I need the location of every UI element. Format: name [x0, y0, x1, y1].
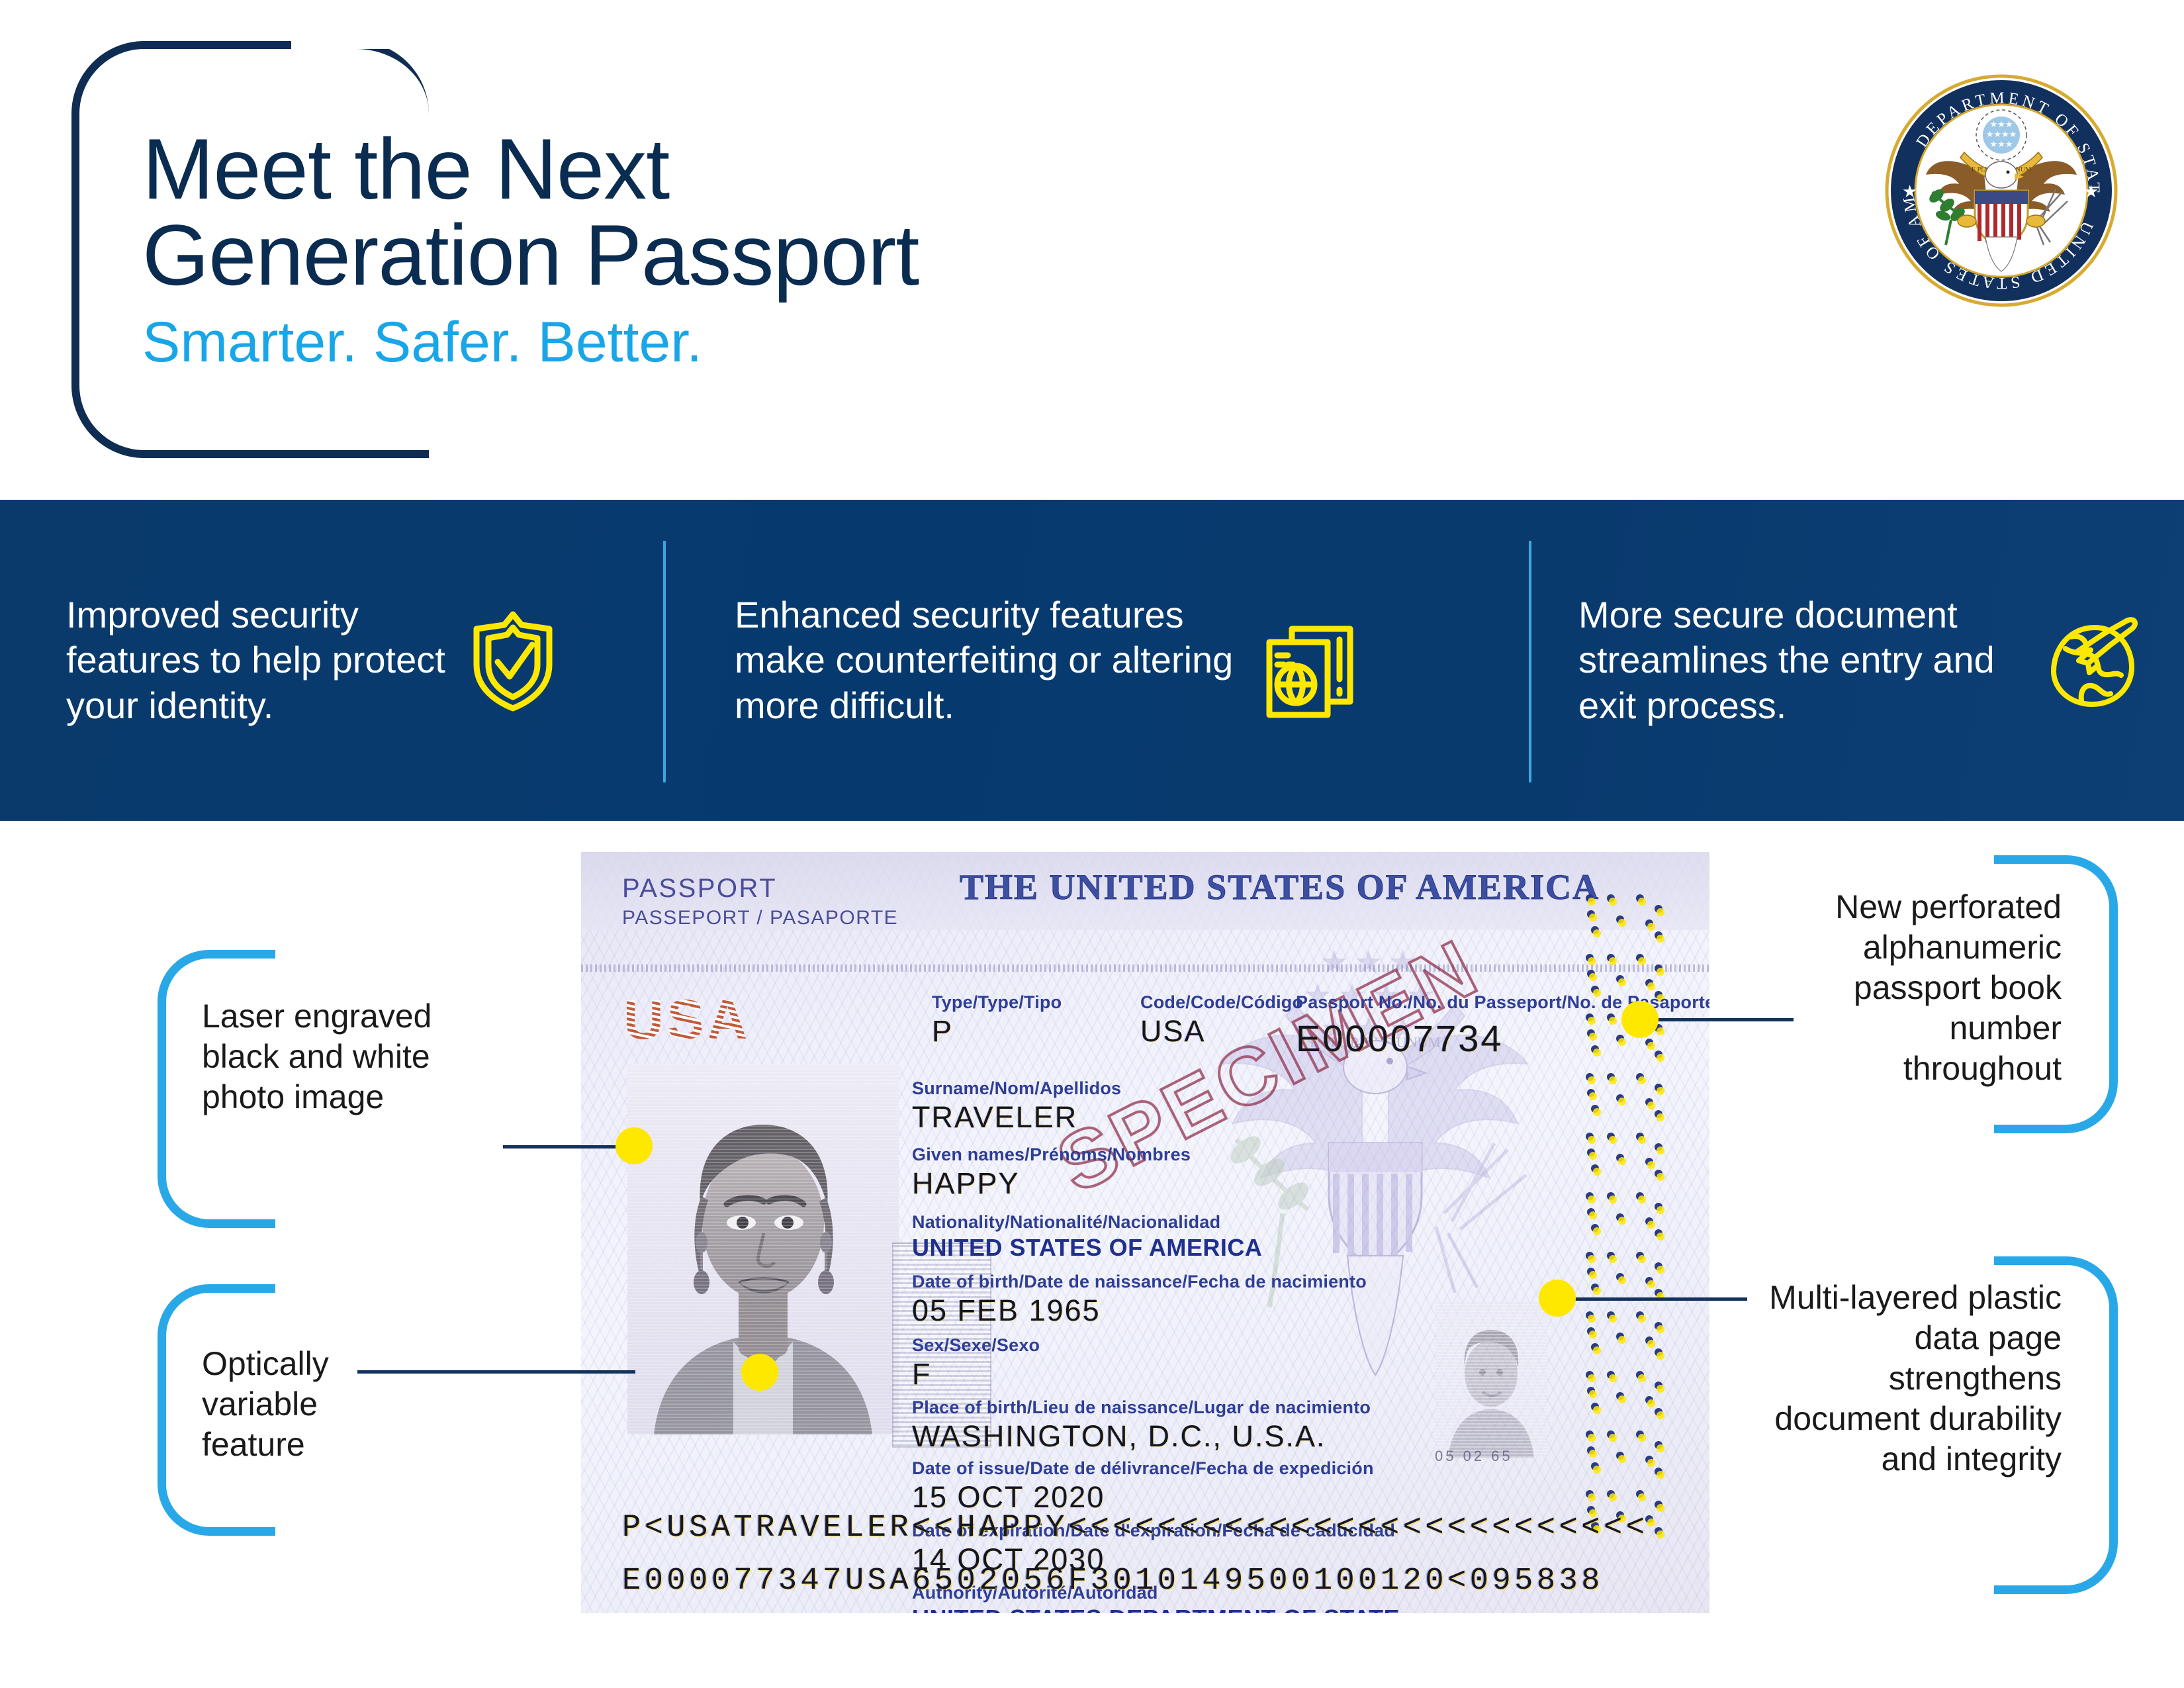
callout-leader-right-2: [1575, 1297, 1747, 1301]
passport-usa-mark: USA: [623, 988, 751, 1052]
callout-dot-right-2: [1539, 1280, 1576, 1317]
page-subtitle: Smarter. Safer. Better.: [142, 312, 1334, 372]
page-title-line-1: Meet the Next: [142, 126, 1334, 212]
callout-left-1-text: Laser engraved black and white photo ima…: [202, 996, 486, 1117]
department-of-state-seal-icon: DEPARTMENT OF STATE UNITED STATES OF AME…: [1885, 74, 2118, 307]
svg-text:★★★: ★★★: [1990, 119, 2013, 129]
callout-left-2-text: Optically variable feature: [202, 1344, 427, 1465]
callout-right-1-text: New perforated alphanumeric passport boo…: [1787, 887, 2062, 1089]
banner-divider-1: [663, 541, 666, 782]
callout-right-2-text: Multi-layered plastic data page strength…: [1767, 1278, 2062, 1479]
field-sex: Sex/Sexe/Sexo F: [912, 1335, 1040, 1391]
callout-dot-right-1: [1621, 1001, 1659, 1038]
svg-text:★★★: ★★★: [1990, 139, 2013, 149]
field-code: Code/Code/Código USA: [1140, 992, 1303, 1049]
passport-data-page: PASSPORT PASSEPORT / PASAPORTE THE UNITE…: [581, 852, 1709, 1613]
svg-text:★★★★: ★★★★: [1986, 129, 2017, 139]
mrz-line-1: P<USATRAVELER<<HAPPY<<<<<<<<<<<<<<<<<<<<…: [622, 1511, 1648, 1546]
ghost-photo-date: 05 02 65: [1435, 1448, 1513, 1465]
passport-card-globe-icon: [1257, 601, 1370, 720]
feature-2-text: Enhanced security features make counterf…: [735, 592, 1257, 728]
field-surname: Surname/Nom/Apellidos TRAVELER: [912, 1078, 1121, 1135]
callout-leader-right-1: [1655, 1018, 1794, 1021]
callout-leader-left-1: [503, 1145, 622, 1149]
callout-dot-left-1: [615, 1127, 653, 1164]
shield-check-icon: [463, 608, 563, 714]
feature-item-1: Improved security features to help prote…: [66, 500, 622, 821]
title-block: Meet the Next Generation Passport Smarte…: [142, 126, 1334, 372]
svg-text:★: ★: [2083, 181, 2099, 201]
banner-divider-2: [1529, 541, 1531, 782]
callout-leader-left-2: [357, 1370, 635, 1374]
page-title-line-2: Generation Passport: [142, 212, 1334, 298]
field-date-of-birth: Date of birth/Date de naissance/Fecha de…: [912, 1272, 1367, 1328]
field-date-of-issue: Date of issue/Date de délivrance/Fecha d…: [912, 1458, 1374, 1515]
svg-text:★: ★: [1902, 181, 1917, 201]
page-header: Meet the Next Generation Passport Smarte…: [0, 0, 2184, 500]
main-illustration-area: PASSPORT PASSEPORT / PASAPORTE THE UNITE…: [0, 821, 2184, 1688]
feature-3-text: More secure document streamlines the ent…: [1578, 592, 2042, 728]
callout-dot-left-2: [741, 1354, 778, 1391]
field-place-of-birth: Place of birth/Lieu de naissance/Lugar d…: [912, 1397, 1371, 1454]
passport-label: PASSPORT: [622, 874, 777, 904]
feature-1-text: Improved security features to help prote…: [66, 592, 463, 728]
field-nationality: Nationality/Nationalité/Nacionalidad UNI…: [912, 1212, 1262, 1262]
feature-banner: Improved security features to help prote…: [0, 500, 2184, 821]
passport-country-title: THE UNITED STATES OF AMERICA: [960, 867, 1600, 908]
mrz-line-2: E000077347USA6502056F3010149500100120<09…: [622, 1564, 1604, 1599]
feature-item-3: More secure document streamlines the ent…: [1578, 500, 2148, 821]
feature-item-2: Enhanced security features make counterf…: [735, 500, 1482, 821]
field-given-names: Given names/Prénoms/Nombres HAPPY: [912, 1145, 1191, 1201]
svg-text:★★★: ★★★: [1322, 948, 1426, 977]
passport-label-multilingual: PASSEPORT / PASAPORTE: [622, 907, 898, 929]
ghost-portrait-photo: [1435, 1302, 1547, 1458]
field-type: Type/Type/Tipo P: [932, 992, 1062, 1049]
globe-airplane-icon: [2042, 608, 2148, 714]
